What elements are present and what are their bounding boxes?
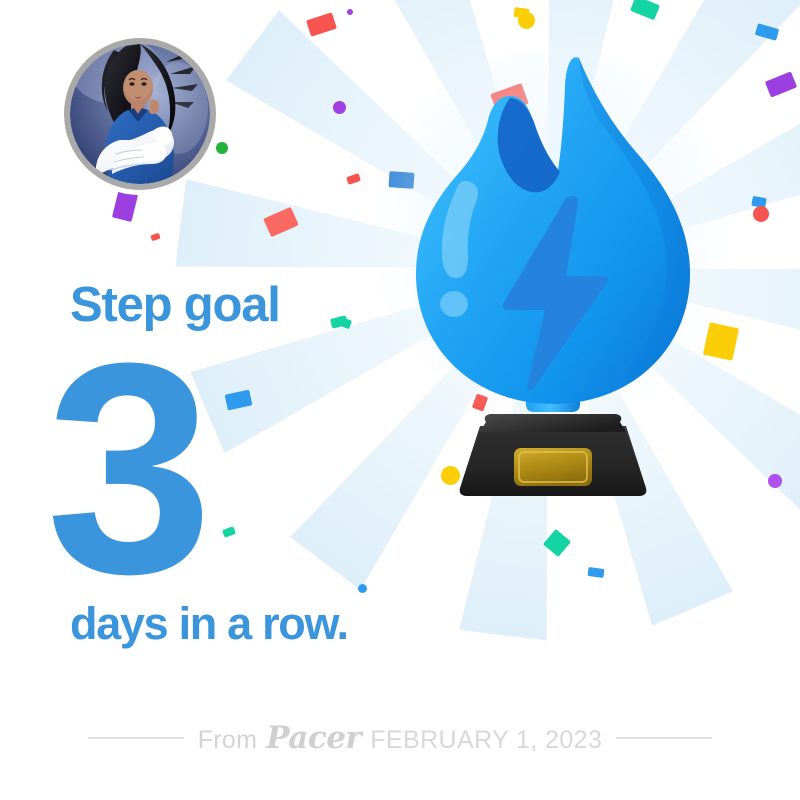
confetti-piece bbox=[513, 7, 529, 19]
ray-6 bbox=[459, 263, 591, 641]
footer-attribution: From Pacer FEBRUARY 1, 2023 bbox=[198, 720, 603, 756]
confetti-piece bbox=[753, 206, 769, 222]
confetti-piece bbox=[225, 390, 253, 411]
ray-7 bbox=[290, 242, 583, 590]
trophy-svg bbox=[378, 52, 728, 500]
ray-10 bbox=[226, 10, 574, 303]
confetti-piece bbox=[336, 316, 352, 330]
ray-2 bbox=[531, 83, 800, 309]
confetti-piece bbox=[306, 12, 337, 37]
confetti-piece bbox=[490, 83, 529, 115]
streak-count: 3 bbox=[46, 318, 207, 618]
confetti-piece bbox=[518, 12, 535, 29]
avatar[interactable] bbox=[64, 38, 216, 190]
confetti-piece bbox=[755, 23, 779, 41]
confetti-piece bbox=[263, 207, 299, 237]
confetti-piece bbox=[150, 233, 161, 242]
from-label: From bbox=[198, 726, 258, 755]
confetti-piece bbox=[543, 529, 571, 557]
avatar-ring bbox=[64, 38, 216, 190]
ray-0 bbox=[504, 0, 636, 273]
pacer-brand-logo: Pacer bbox=[266, 720, 361, 756]
footer-rule-right bbox=[616, 737, 712, 739]
achievement-date: FEBRUARY 1, 2023 bbox=[370, 726, 602, 755]
ray-1 bbox=[513, 0, 800, 294]
confetti-piece bbox=[330, 315, 348, 329]
ray-11 bbox=[363, 0, 589, 285]
footer: From Pacer FEBRUARY 1, 2023 bbox=[0, 712, 800, 764]
blue-flame-trophy-icon bbox=[378, 52, 728, 500]
confetti-piece bbox=[358, 584, 367, 593]
ray-5 bbox=[507, 251, 733, 626]
confetti-piece bbox=[112, 190, 138, 222]
confetti-piece bbox=[441, 466, 460, 485]
confetti-piece bbox=[765, 71, 797, 97]
confetti-piece bbox=[222, 526, 236, 538]
footer-rule-left bbox=[88, 737, 184, 739]
confetti-piece bbox=[216, 142, 228, 154]
confetti-piece bbox=[630, 0, 660, 20]
confetti-piece bbox=[768, 474, 782, 488]
ray-3 bbox=[543, 224, 800, 356]
confetti-piece bbox=[751, 196, 767, 208]
ray-4 bbox=[522, 233, 800, 526]
achievement-card: Step goal 3 days in a row. From Pacer FE… bbox=[0, 0, 800, 800]
confetti-piece bbox=[347, 9, 353, 15]
confetti-piece bbox=[346, 173, 361, 185]
ray-8 bbox=[190, 227, 565, 453]
confetti-piece bbox=[703, 322, 739, 361]
confetti-piece bbox=[472, 393, 488, 411]
confetti-piece bbox=[587, 567, 604, 578]
streak-subtitle: days in a row. bbox=[70, 601, 348, 646]
confetti-piece bbox=[333, 101, 346, 114]
confetti-piece bbox=[388, 171, 414, 189]
